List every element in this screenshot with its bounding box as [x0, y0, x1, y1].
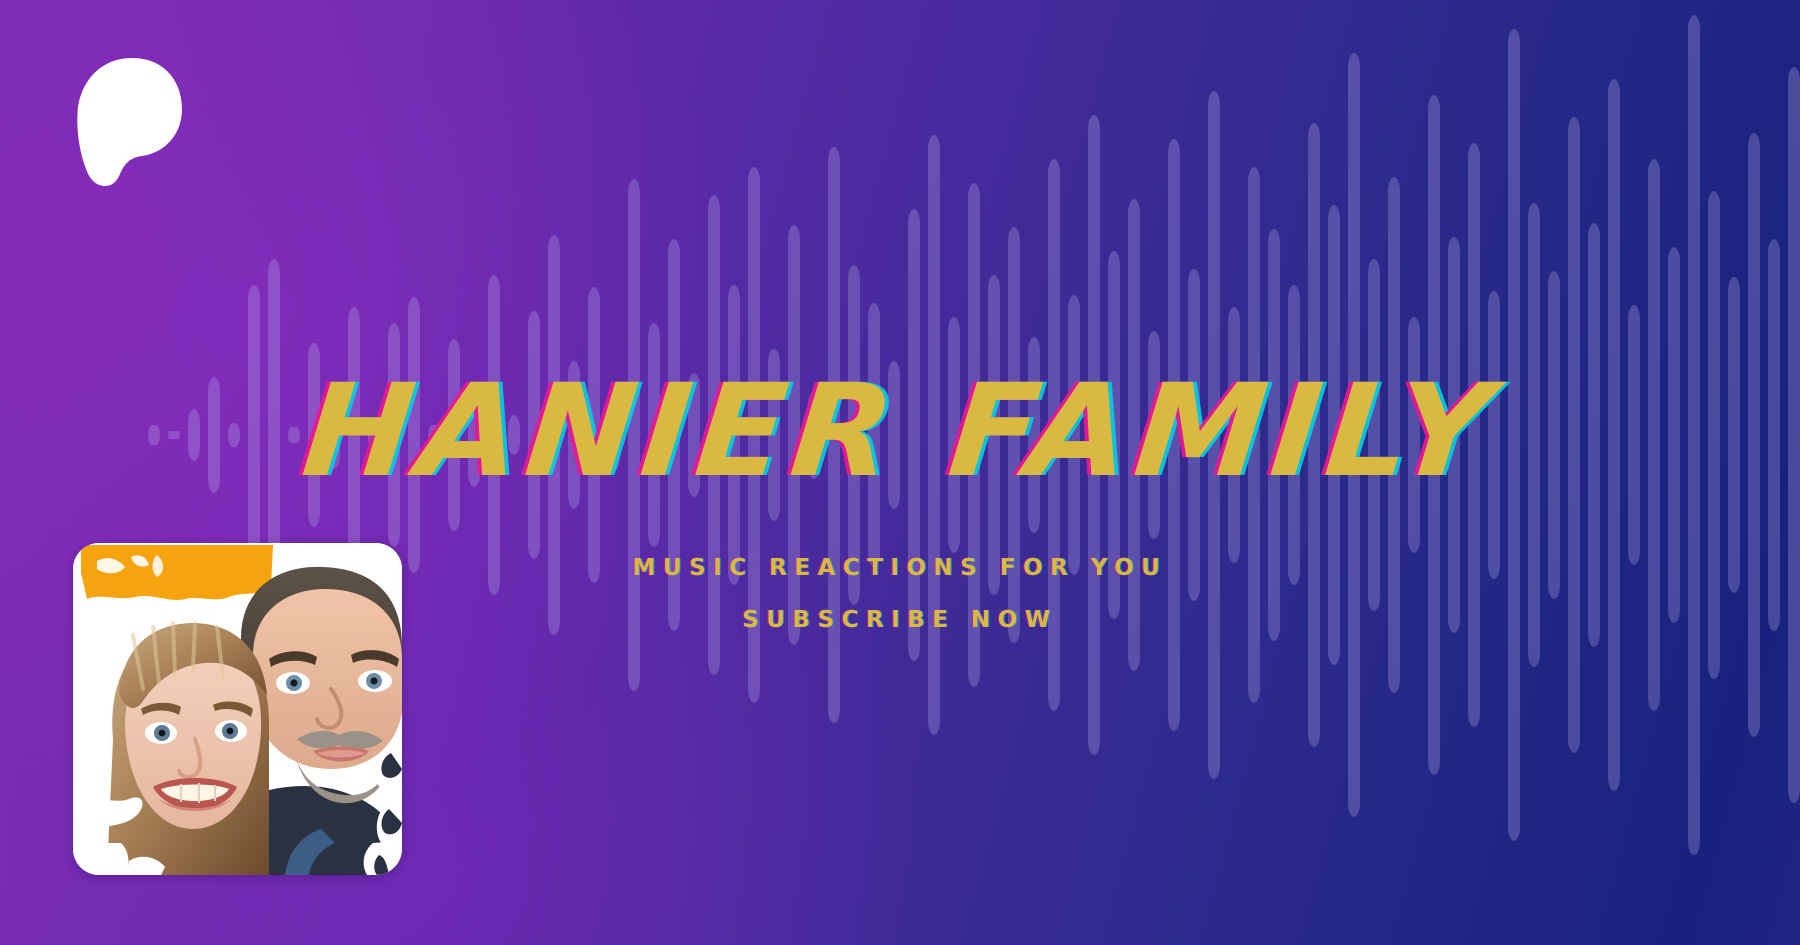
avatar[interactable]: [73, 543, 402, 875]
title-block: HANIER FAMILY: [0, 368, 1800, 496]
page-title: HANIER FAMILY: [297, 368, 1503, 496]
patreon-logo-icon[interactable]: [68, 56, 184, 188]
channel-banner: HANIER FAMILY MUSIC REACTIONS FOR YOU SU…: [0, 0, 1800, 945]
